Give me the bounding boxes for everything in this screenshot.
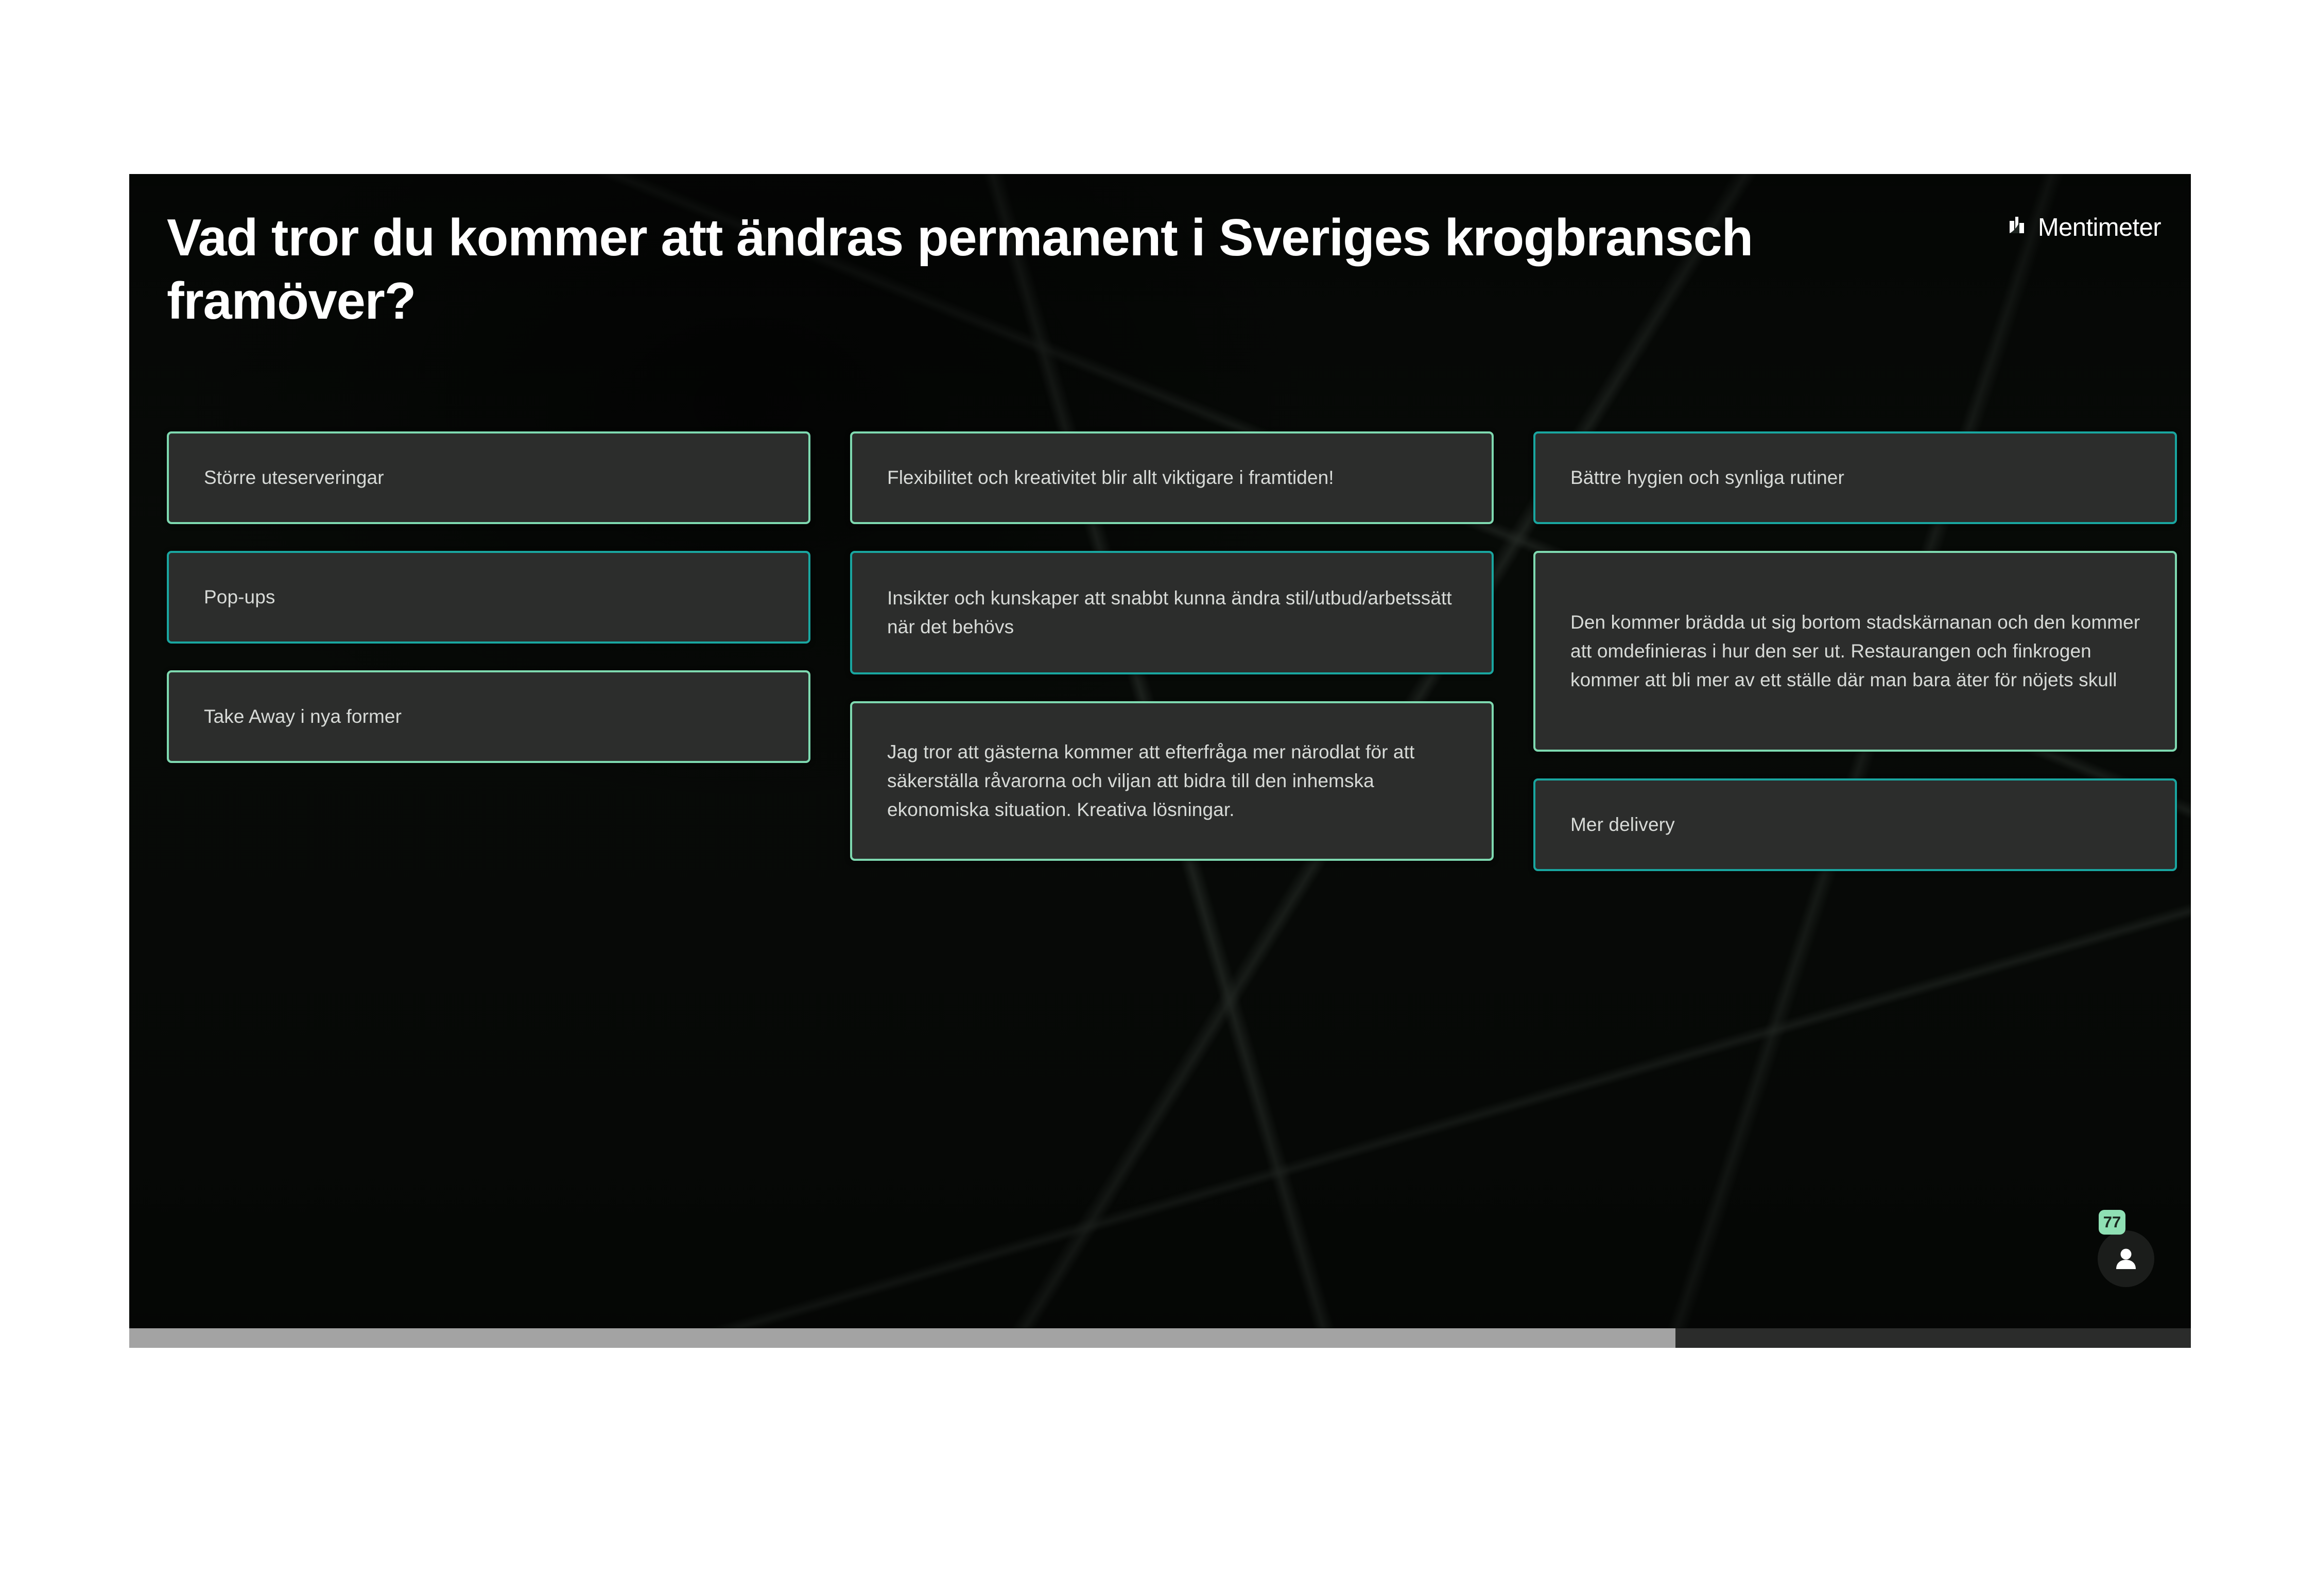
horizontal-scrollbar-thumb[interactable] bbox=[129, 1328, 1675, 1348]
answers-column-2: Flexibilitet och kreativitet blir allt v… bbox=[850, 431, 1494, 888]
answer-text: Bättre hygien och synliga rutiner bbox=[1570, 463, 1844, 492]
answers-grid: Större uteserveringar Pop-ups Take Away … bbox=[129, 174, 2191, 1328]
answer-text: Den kommer brädda ut sig bortom stadskär… bbox=[1570, 608, 2146, 695]
participant-counter[interactable]: 77 bbox=[2098, 1210, 2154, 1287]
answer-card[interactable]: Flexibilitet och kreativitet blir allt v… bbox=[850, 431, 1494, 524]
answer-card[interactable]: Mer delivery bbox=[1533, 778, 2177, 871]
answer-text: Flexibilitet och kreativitet blir allt v… bbox=[887, 463, 1334, 492]
answer-card[interactable]: Den kommer brädda ut sig bortom stadskär… bbox=[1533, 551, 2177, 752]
person-icon bbox=[2098, 1230, 2154, 1287]
answer-card[interactable]: Take Away i nya former bbox=[167, 670, 810, 763]
participant-count-badge: 77 bbox=[2099, 1210, 2125, 1235]
answer-card[interactable]: Jag tror att gästerna kommer att efterfr… bbox=[850, 701, 1494, 861]
answer-card[interactable]: Större uteserveringar bbox=[167, 431, 810, 524]
answer-text: Större uteserveringar bbox=[204, 463, 384, 492]
answer-text: Jag tror att gästerna kommer att efterfr… bbox=[887, 738, 1463, 825]
answer-text: Take Away i nya former bbox=[204, 702, 402, 731]
answer-text: Mer delivery bbox=[1570, 810, 1675, 839]
answers-column-3: Bättre hygien och synliga rutiner Den ko… bbox=[1533, 431, 2177, 898]
answer-card[interactable]: Bättre hygien och synliga rutiner bbox=[1533, 431, 2177, 524]
answer-card[interactable]: Pop-ups bbox=[167, 551, 810, 644]
presentation-slide: Vad tror du kommer att ändras permanent … bbox=[129, 174, 2191, 1328]
horizontal-scrollbar[interactable] bbox=[129, 1328, 2191, 1348]
answer-card[interactable]: Insikter och kunskaper att snabbt kunna … bbox=[850, 551, 1494, 674]
answer-text: Pop-ups bbox=[204, 583, 275, 612]
mentimeter-wordmark: Mentimeter bbox=[2038, 215, 2161, 240]
mentimeter-bars-icon bbox=[2009, 216, 2031, 240]
question-title: Vad tror du kommer att ändras permanent … bbox=[167, 206, 1881, 333]
answer-text: Insikter och kunskaper att snabbt kunna … bbox=[887, 584, 1463, 641]
answers-column-1: Större uteserveringar Pop-ups Take Away … bbox=[167, 431, 810, 790]
mentimeter-logo: Mentimeter bbox=[2009, 215, 2161, 240]
